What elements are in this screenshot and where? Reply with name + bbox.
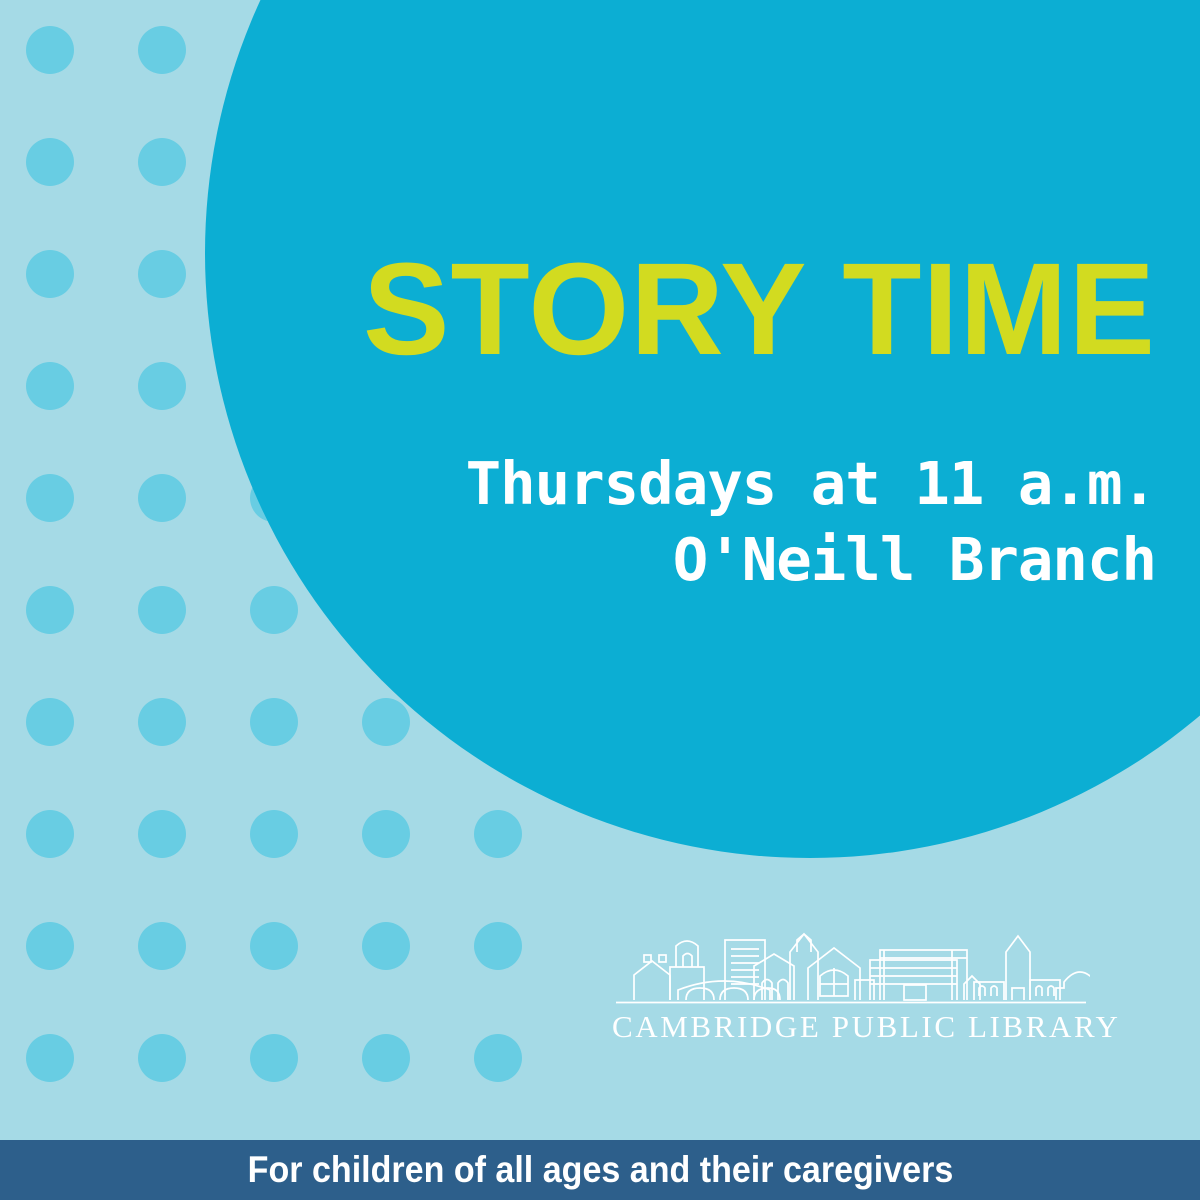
decorative-dot xyxy=(26,362,74,410)
city-skyline-icon xyxy=(612,928,1090,1006)
decorative-dot xyxy=(26,586,74,634)
decorative-dot xyxy=(362,922,410,970)
decorative-dot xyxy=(26,922,74,970)
decorative-dot xyxy=(362,698,410,746)
event-details: Thursdays at 11 a.m. O'Neill Branch xyxy=(300,446,1156,597)
decorative-dot xyxy=(138,26,186,74)
decorative-dot xyxy=(26,1034,74,1082)
decorative-dot xyxy=(138,698,186,746)
decorative-dot xyxy=(250,586,298,634)
decorative-dot xyxy=(26,698,74,746)
decorative-dot xyxy=(250,698,298,746)
decorative-dot xyxy=(362,1034,410,1082)
decorative-dot xyxy=(474,1034,522,1082)
library-logo: CAMBRIDGE PUBLIC LIBRARY xyxy=(612,928,1090,1044)
decorative-dot xyxy=(138,474,186,522)
decorative-dot xyxy=(474,810,522,858)
decorative-dot xyxy=(138,922,186,970)
event-schedule-line: Thursdays at 11 a.m. xyxy=(300,446,1156,522)
decorative-dot xyxy=(250,810,298,858)
decorative-dot xyxy=(138,250,186,298)
footer-audience-text: For children of all ages and their careg… xyxy=(247,1149,953,1191)
decorative-dot xyxy=(26,250,74,298)
decorative-dot xyxy=(26,138,74,186)
decorative-dot xyxy=(26,810,74,858)
story-time-poster: STORY TIME Thursdays at 11 a.m. O'Neill … xyxy=(0,0,1200,1200)
decorative-dot xyxy=(362,810,410,858)
decorative-dot xyxy=(138,138,186,186)
decorative-dot xyxy=(138,1034,186,1082)
decorative-dot xyxy=(138,362,186,410)
decorative-dot xyxy=(138,810,186,858)
page-title: STORY TIME xyxy=(249,243,1156,374)
decorative-dot xyxy=(26,26,74,74)
footer-banner: For children of all ages and their careg… xyxy=(0,1140,1200,1200)
decorative-dot xyxy=(250,1034,298,1082)
library-wordmark: CAMBRIDGE PUBLIC LIBRARY xyxy=(612,1010,1090,1044)
decorative-dot xyxy=(250,922,298,970)
decorative-dot xyxy=(138,586,186,634)
event-location-line: O'Neill Branch xyxy=(300,522,1156,598)
decorative-dot xyxy=(26,474,74,522)
decorative-dot xyxy=(474,922,522,970)
